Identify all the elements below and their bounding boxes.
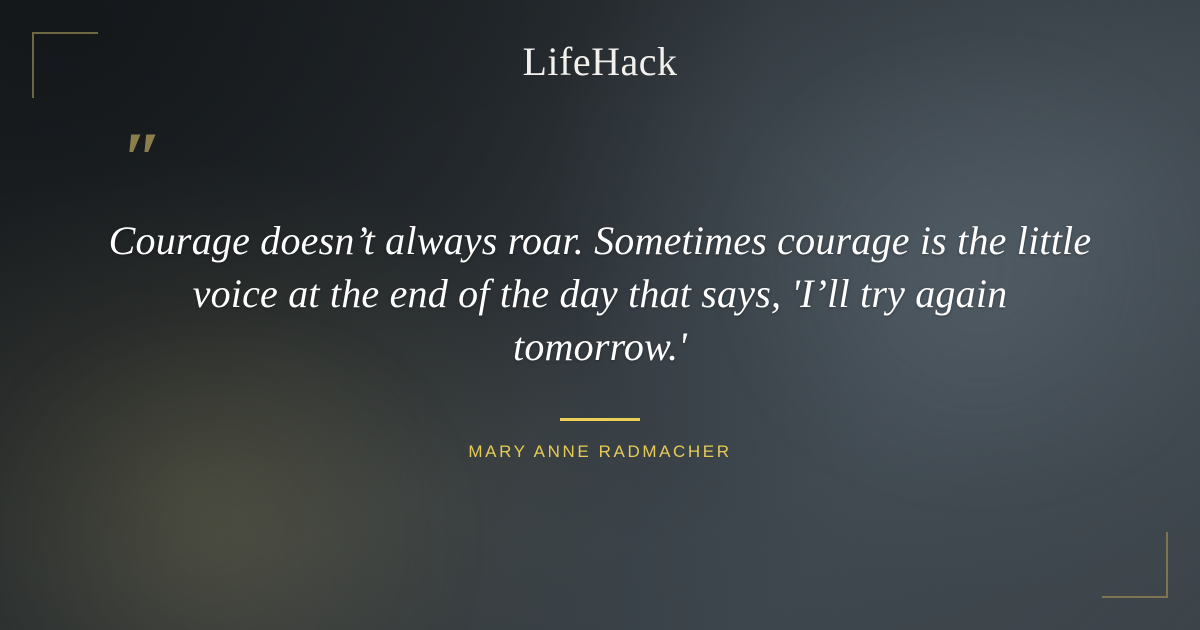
- quote-line-2: voice at the end of the day that says, '…: [193, 271, 1008, 316]
- quote-line-3: tomorrow.': [513, 324, 687, 369]
- quote-text: Courage doesn’t always roar. Sometimes c…: [80, 214, 1120, 373]
- brand-logo: LifeHack: [0, 39, 1200, 85]
- quote-card: LifeHack ″ Courage doesn’t always roar. …: [0, 0, 1200, 630]
- gold-divider: [560, 418, 640, 421]
- quote-line-1: Courage doesn’t always roar. Sometimes c…: [109, 218, 1092, 263]
- divider-container: [0, 408, 1200, 426]
- quotation-mark-icon: ″: [122, 122, 163, 196]
- card-content: LifeHack ″ Courage doesn’t always roar. …: [0, 0, 1200, 630]
- quote-author: MARY ANNE RADMACHER: [0, 440, 1200, 464]
